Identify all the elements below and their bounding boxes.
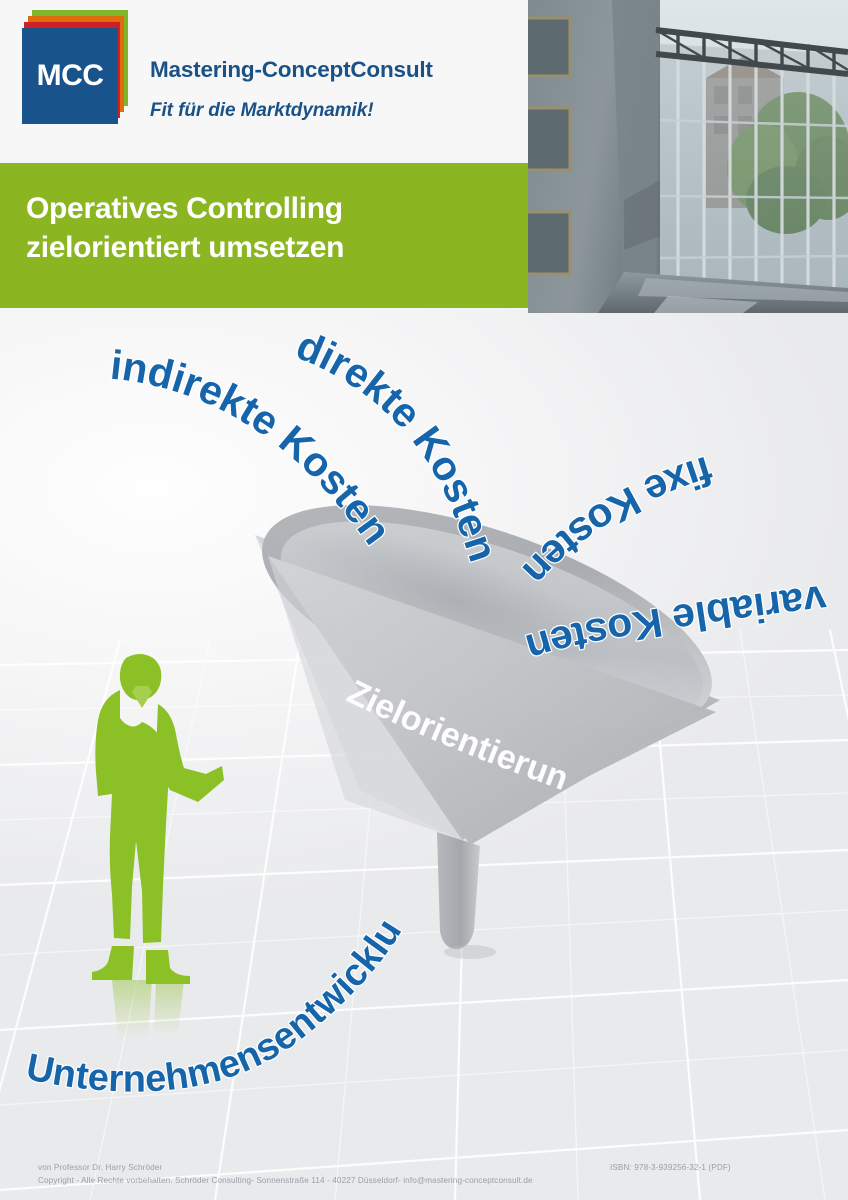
title-band: Operatives Controlling zielorientiert um… [0,163,528,308]
brand-tagline: Fit für die Marktdynamik! [150,100,373,122]
logo-wordmark: MCC [22,28,118,124]
book-cover: indirekte Kosten direkte Kosten fixe Kos… [0,0,848,1200]
businessman-silhouette [60,650,245,1050]
footer-isbn: ISBN: 978-3-939256-32-1 (PDF) [610,1163,731,1172]
title-line-1: Operatives Controlling [26,192,343,226]
cover-photo [528,0,848,313]
footer-author: von Professor Dr. Harry Schröder [38,1163,162,1172]
footer-copyright: Copyright - Alle Rechte vorbehalten. Sch… [38,1176,533,1185]
brand-name: Mastering-ConceptConsult [150,57,433,83]
header-panel: MCC Mastering-ConceptConsult Fit für die… [0,0,530,160]
label-variable-kosten: variable Kosten [521,576,829,671]
mcc-logo: MCC [22,10,142,138]
footer: von Professor Dr. Harry Schröder Copyrig… [0,1154,848,1200]
label-fixe-kosten: fixe Kosten [514,447,718,594]
title-line-2: zielorientiert umsetzen [26,231,344,265]
